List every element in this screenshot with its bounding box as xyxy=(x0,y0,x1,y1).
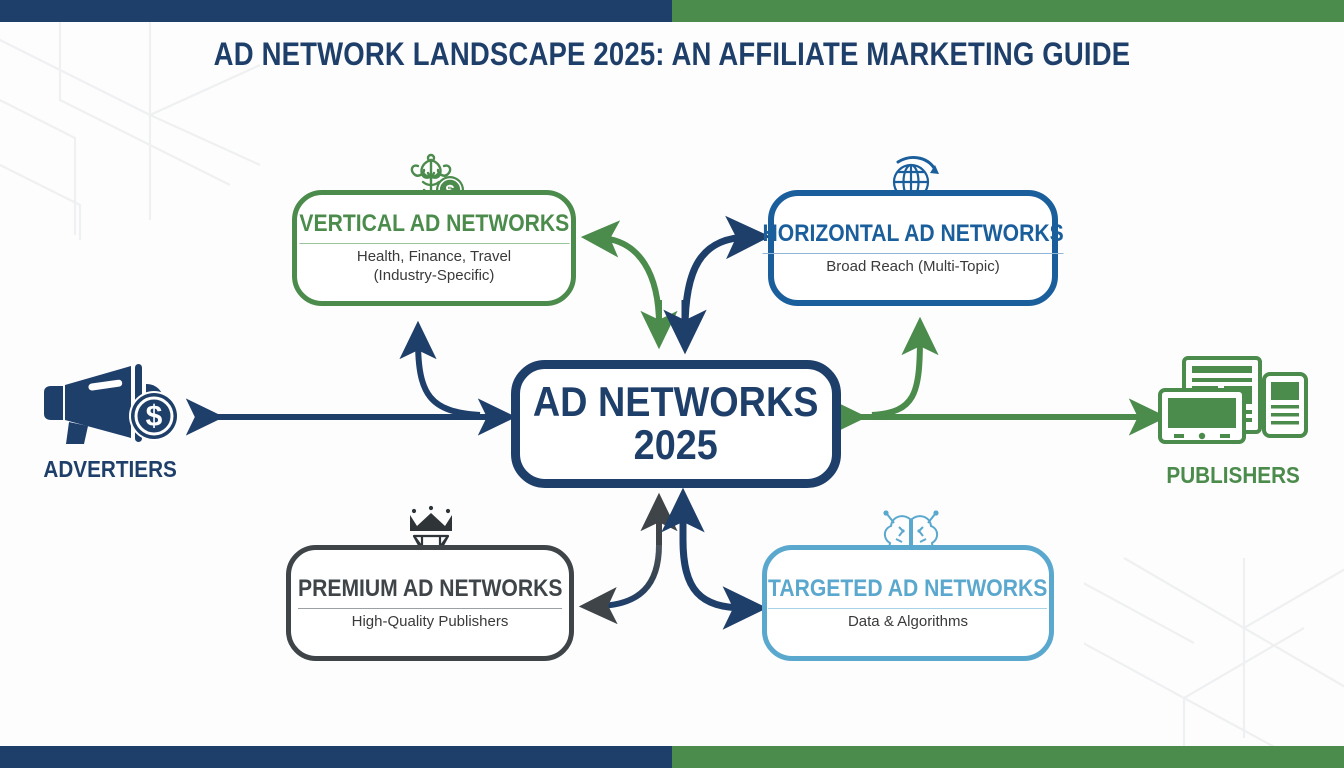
node-targeted-subtitle-line1: Data & Algorithms xyxy=(848,613,968,632)
arrow-advertisers-branch-up xyxy=(418,340,480,415)
arrow-hub-to-targeted xyxy=(683,540,745,608)
node-targeted-title: TARGETED AD NETWORKS xyxy=(768,575,1047,609)
node-premium-subtitle: High-Quality Publishers xyxy=(352,613,509,632)
megaphone-dollar-icon: $ xyxy=(36,362,186,446)
node-vertical-subtitle-line1: Health, Finance, Travel xyxy=(357,248,511,267)
hub-title-line2: 2025 xyxy=(634,424,718,467)
actor-publishers[interactable]: PUBLISHERS xyxy=(1146,352,1321,489)
hub-title-line1: AD NETWORKS xyxy=(533,381,819,424)
infographic-canvas: AD NETWORK LANDSCAPE 2025: AN AFFILIATE … xyxy=(0,0,1344,768)
actor-publishers-label: PUBLISHERS xyxy=(1167,462,1300,489)
node-premium-ad-networks[interactable]: PREMIUM AD NETWORKS High-Quality Publish… xyxy=(286,545,574,661)
node-horizontal-subtitle-line1: Broad Reach (Multi-Topic) xyxy=(826,258,999,277)
node-horizontal-title: HORIZONTAL AD NETWORKS xyxy=(762,220,1063,254)
arrow-hub-to-horizontal xyxy=(685,237,748,330)
node-horizontal-ad-networks[interactable]: HORIZONTAL AD NETWORKS Broad Reach (Mult… xyxy=(768,190,1058,306)
node-vertical-ad-networks[interactable]: VERTICAL AD NETWORKS Health, Finance, Tr… xyxy=(292,190,576,306)
node-targeted-subtitle: Data & Algorithms xyxy=(848,613,968,632)
node-vertical-title: VERTICAL AD NETWORKS xyxy=(299,210,569,244)
node-vertical-subtitle-line2: (Industry-Specific) xyxy=(357,267,511,286)
actor-advertisers-label: ADVERTIERS xyxy=(44,456,177,483)
arrow-hub-to-premium xyxy=(598,545,659,606)
node-vertical-subtitle: Health, Finance, Travel (Industry-Specif… xyxy=(357,248,511,286)
node-premium-title: PREMIUM AD NETWORKS xyxy=(298,575,562,609)
svg-text:$: $ xyxy=(145,400,162,433)
arrow-publishers-branch-up xyxy=(872,336,920,415)
devices-publications-icon xyxy=(1154,352,1314,452)
node-hub-ad-networks-2025[interactable]: AD NETWORKS 2025 xyxy=(511,360,841,488)
actor-advertisers[interactable]: $ ADVERTIERS xyxy=(28,362,193,483)
node-premium-subtitle-line1: High-Quality Publishers xyxy=(352,613,509,632)
arrow-hub-to-vertical xyxy=(600,238,659,325)
node-horizontal-subtitle: Broad Reach (Multi-Topic) xyxy=(826,258,999,277)
node-targeted-ad-networks[interactable]: TARGETED AD NETWORKS Data & Algorithms xyxy=(762,545,1054,661)
